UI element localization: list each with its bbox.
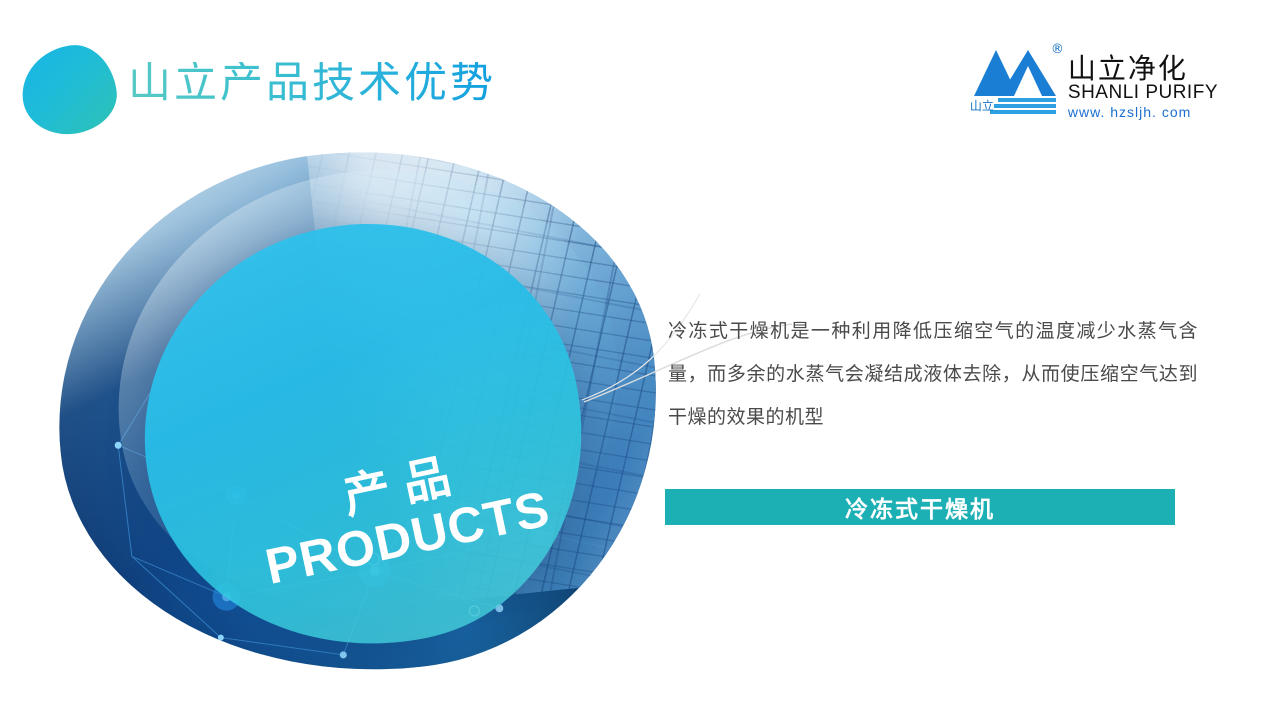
product-name-banner[interactable]: 冷冻式干燥机 (665, 489, 1175, 525)
hero-label-group: 产品 PRODUCTS (251, 433, 555, 595)
slide-root: 山立产品技术优势 ® 山立 山立净化 SHANLI PURIFY www. hz… (0, 0, 1280, 720)
product-name-label: 冷冻式干燥机 (845, 490, 995, 524)
registered-trademark-icon: ® (1051, 42, 1064, 57)
logo-mark-label: 山立 (970, 97, 994, 114)
mountain-peaks-icon: ® 山立 (970, 40, 1062, 116)
header-blob-icon (16, 40, 121, 140)
page-title: 山立产品技术优势 (128, 62, 496, 105)
logo-website: www. hzsljh. com (1068, 104, 1218, 121)
logo-company-en: SHANLI PURIFY (1068, 83, 1218, 104)
logo-text-block: 山立净化 SHANLI PURIFY www. hzsljh. com (1068, 40, 1218, 121)
product-description: 冷冻式干燥机是一种利用降低压缩空气的温度减少水蒸气含量，而多余的水蒸气会凝结成液… (668, 310, 1198, 439)
logo-company-cn: 山立净化 (1068, 54, 1218, 83)
brand-logo: ® 山立 山立净化 SHANLI PURIFY www. hzsljh. com (970, 40, 1218, 118)
product-hero-graphic: 产品 PRODUCTS (58, 152, 658, 672)
hero-outer-blob: 产品 PRODUCTS (32, 122, 683, 702)
